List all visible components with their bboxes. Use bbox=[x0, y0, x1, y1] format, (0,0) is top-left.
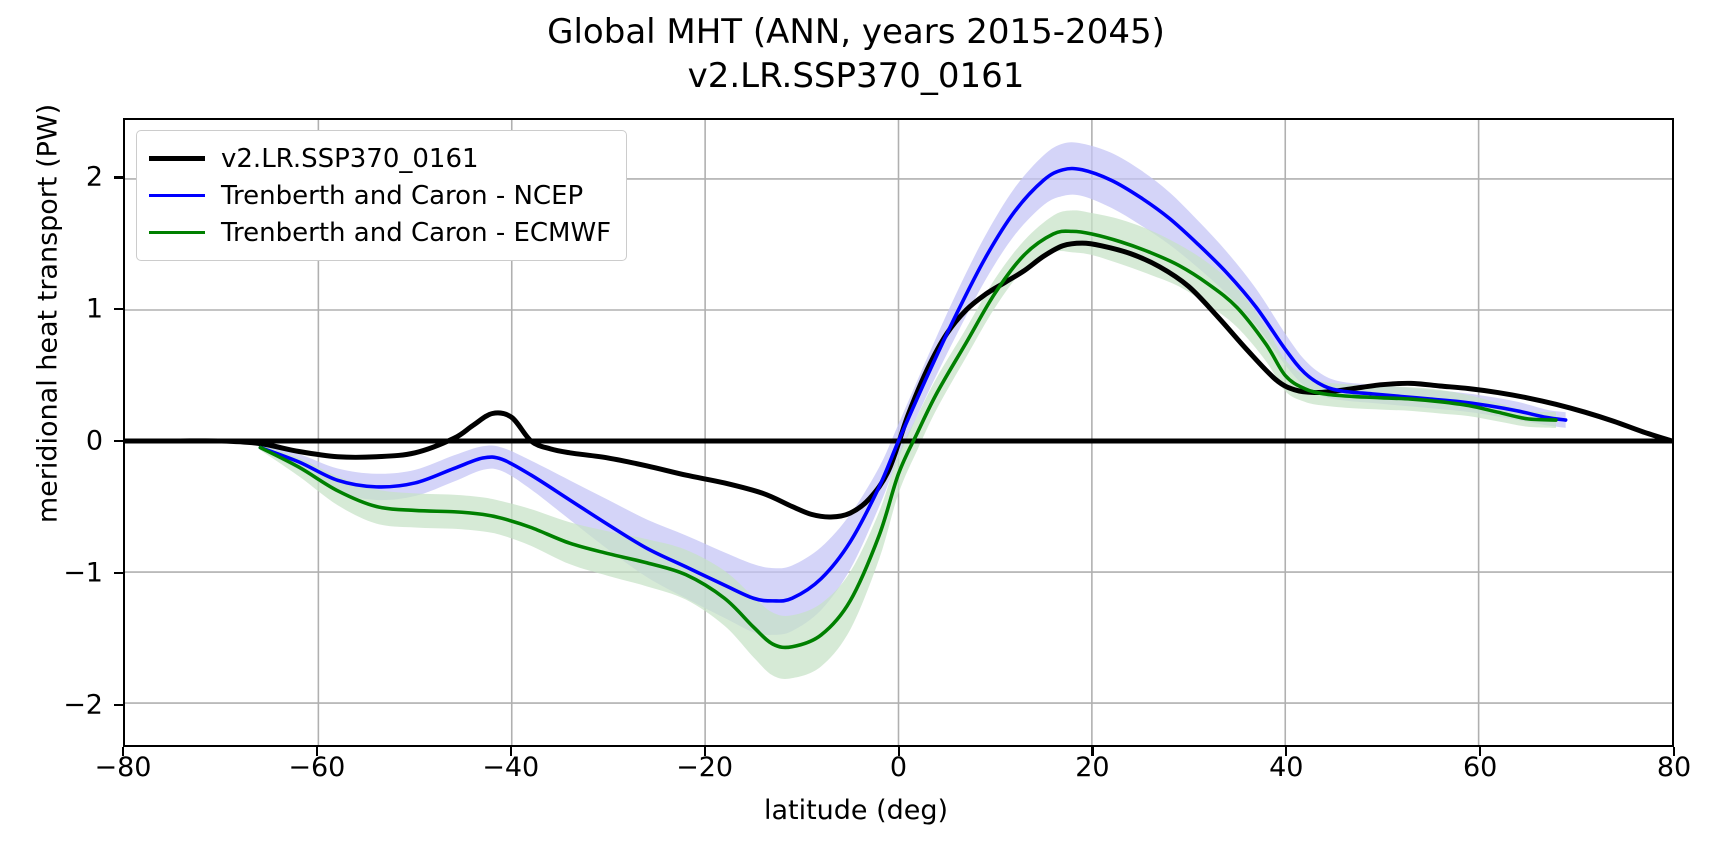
x-tick-mark bbox=[1673, 747, 1675, 756]
legend-label: Trenberth and Caron - NCEP bbox=[221, 181, 583, 211]
legend-swatch-icon bbox=[149, 194, 205, 197]
y-tick-mark bbox=[114, 308, 123, 310]
x-tick-mark bbox=[1285, 747, 1287, 756]
legend-swatch-icon bbox=[149, 231, 205, 234]
legend-swatch-icon bbox=[149, 156, 205, 161]
chart-title: Global MHT (ANN, years 2015-2045) v2.LR.… bbox=[0, 10, 1712, 98]
x-tick-label: −80 bbox=[78, 752, 168, 783]
x-tick-mark bbox=[510, 747, 512, 756]
x-axis-label: latitude (deg) bbox=[0, 795, 1712, 826]
x-tick-mark bbox=[704, 747, 706, 756]
chart-legend: v2.LR.SSP370_0161Trenberth and Caron - N… bbox=[136, 130, 627, 261]
x-tick-label: 20 bbox=[1047, 752, 1137, 783]
legend-item-2[interactable]: Trenberth and Caron - ECMWF bbox=[149, 214, 611, 251]
x-tick-label: −20 bbox=[660, 752, 750, 783]
x-tick-mark bbox=[1091, 747, 1093, 756]
y-tick-mark bbox=[114, 176, 123, 178]
x-tick-mark bbox=[316, 747, 318, 756]
x-tick-label: 40 bbox=[1241, 752, 1331, 783]
x-tick-label: 0 bbox=[854, 752, 944, 783]
y-axis-label: meridional heat transport (PW) bbox=[33, 34, 64, 594]
x-tick-mark bbox=[1479, 747, 1481, 756]
y-tick-label: −2 bbox=[31, 689, 103, 720]
y-tick-mark bbox=[114, 572, 123, 574]
uncertainty-band-2 bbox=[260, 210, 1556, 679]
x-tick-label: 60 bbox=[1435, 752, 1525, 783]
legend-item-1[interactable]: Trenberth and Caron - NCEP bbox=[149, 177, 611, 214]
y-tick-mark bbox=[114, 704, 123, 706]
x-tick-label: −60 bbox=[272, 752, 362, 783]
chart-figure: Global MHT (ANN, years 2015-2045) v2.LR.… bbox=[0, 0, 1712, 848]
x-tick-mark bbox=[898, 747, 900, 756]
x-tick-label: −40 bbox=[466, 752, 556, 783]
y-tick-mark bbox=[114, 440, 123, 442]
legend-label: Trenberth and Caron - ECMWF bbox=[221, 218, 611, 248]
x-tick-label: 80 bbox=[1629, 752, 1712, 783]
x-tick-mark bbox=[122, 747, 124, 756]
legend-item-0[interactable]: v2.LR.SSP370_0161 bbox=[149, 140, 611, 177]
legend-label: v2.LR.SSP370_0161 bbox=[221, 144, 479, 174]
